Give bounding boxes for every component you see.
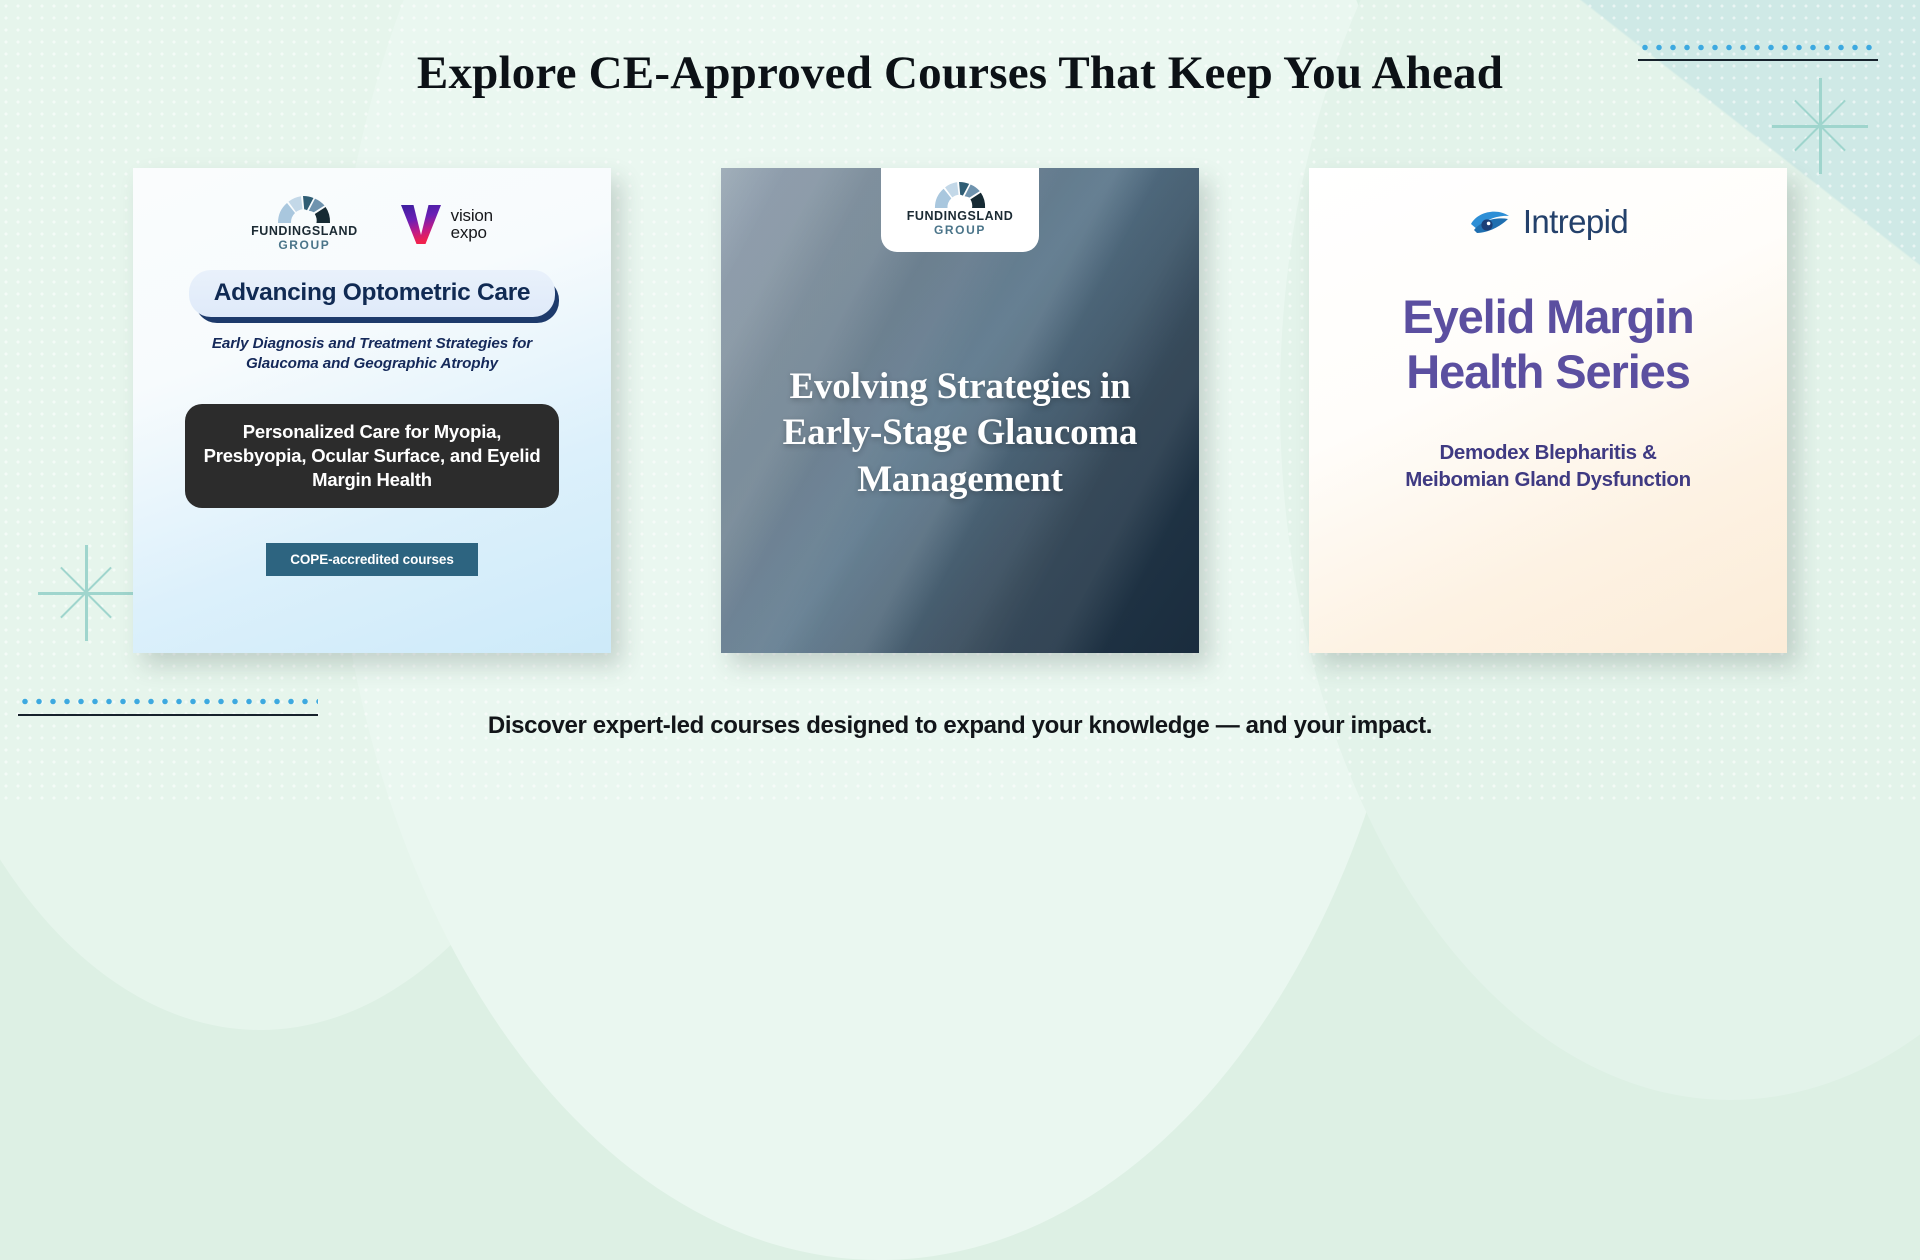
card1-heading-pill: Advancing Optometric Care <box>189 270 555 317</box>
intrepid-logo: Intrepid <box>1468 202 1628 242</box>
course-card-eyelid[interactable]: Intrepid Eyelid Margin Health Series Dem… <box>1309 168 1787 653</box>
card1-heading: Advancing Optometric Care <box>189 270 555 317</box>
dotted-line-icon <box>18 698 318 705</box>
fundingsland-fan-icon <box>276 194 332 224</box>
card3-title-line1: Eyelid Margin <box>1402 290 1693 345</box>
vision-expo-logo: vision expo <box>398 201 493 247</box>
card3-subtitle-line1: Demodex Blepharitis & <box>1405 440 1691 467</box>
intrepid-eye-icon <box>1468 202 1514 242</box>
vision-expo-word-vision: vision <box>451 207 493 224</box>
card3-subtitle-line2: Meibomian Gland Dysfunction <box>1405 467 1691 494</box>
vision-expo-v-icon <box>398 201 444 247</box>
page-title: Explore CE-Approved Courses That Keep Yo… <box>0 46 1920 100</box>
card1-logo-row: FUNDINGSLAND GROUP vi <box>251 194 493 254</box>
page-tagline: Discover expert-led courses designed to … <box>0 712 1920 740</box>
course-card-optometric[interactable]: FUNDINGSLAND GROUP vi <box>133 168 611 653</box>
fundingsland-name: FUNDINGSLAND <box>907 209 1014 223</box>
course-card-glaucoma[interactable]: FUNDINGSLAND GROUP Evolving Strategies i… <box>721 168 1199 653</box>
card3-title: Eyelid Margin Health Series <box>1402 290 1693 400</box>
card3-subtitle: Demodex Blepharitis & Meibomian Gland Dy… <box>1405 440 1691 493</box>
vision-expo-word-expo: expo <box>451 224 493 241</box>
course-card-row: FUNDINGSLAND GROUP vi <box>0 168 1920 653</box>
card2-title: Evolving Strategies in Early-Stage Glauc… <box>721 364 1199 504</box>
fundingsland-group-logo: FUNDINGSLAND GROUP <box>251 194 358 254</box>
card3-title-line2: Health Series <box>1402 345 1693 400</box>
cope-accredited-badge[interactable]: COPE-accredited courses <box>266 543 478 576</box>
fundingsland-group-word: GROUP <box>278 238 330 254</box>
card1-subtitle: Early Diagnosis and Treatment Strategies… <box>202 334 542 374</box>
intrepid-wordmark: Intrepid <box>1523 203 1628 241</box>
fundingsland-fan-icon <box>933 180 987 209</box>
fundingsland-group-logo: FUNDINGSLAND GROUP <box>881 168 1039 252</box>
fundingsland-name: FUNDINGSLAND <box>251 224 358 238</box>
fundingsland-group-word: GROUP <box>934 223 986 239</box>
card1-highlight-box: Personalized Care for Myopia, Presbyopia… <box>185 404 559 508</box>
